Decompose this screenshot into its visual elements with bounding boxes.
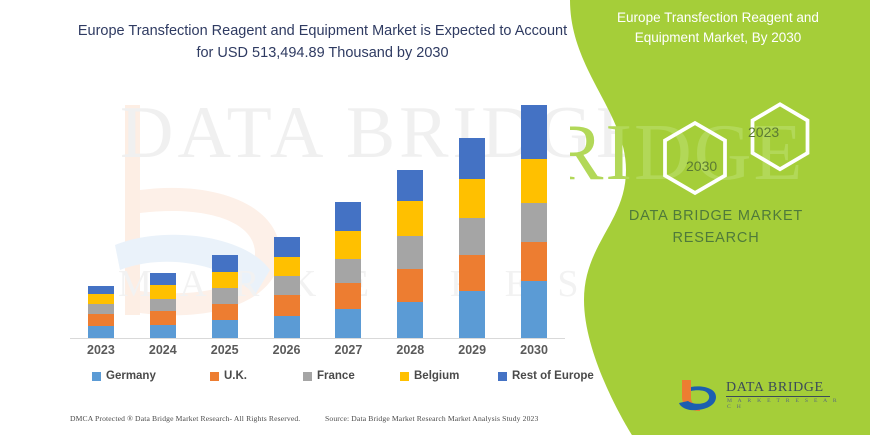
logo-name: DATA BRIDGE xyxy=(726,380,824,396)
bar-segment-2025-belgium[interactable] xyxy=(212,272,238,289)
x-tick-2027: 2027 xyxy=(318,343,378,357)
bar-segment-2029-rest-of-europe[interactable] xyxy=(459,138,485,180)
green-side-panel: RIDGE Europe Transfection Reagent and Eq… xyxy=(570,0,870,435)
infographic-canvas: DATA BRIDGE M A R K E T R E S E A R C H … xyxy=(0,0,870,435)
bar-segment-2026-rest-of-europe[interactable] xyxy=(274,237,300,257)
panel-brand-line-1: DATA BRIDGE MARKET xyxy=(590,208,842,224)
bar-segment-2027-germany[interactable] xyxy=(335,309,361,338)
legend-item-germany[interactable]: Germany xyxy=(92,370,156,382)
legend-swatch-icon xyxy=(303,372,312,381)
bar-segment-2030-france[interactable] xyxy=(521,203,547,241)
x-axis-tick-labels: 20232024202520262027202820292030 xyxy=(70,343,565,361)
bar-segment-2025-rest-of-europe[interactable] xyxy=(212,255,238,272)
bar-segment-2023-u-k[interactable] xyxy=(88,314,114,325)
legend-swatch-icon xyxy=(210,372,219,381)
bar-segment-2027-rest-of-europe[interactable] xyxy=(335,202,361,231)
bar-segment-2030-belgium[interactable] xyxy=(521,159,547,204)
bar-segment-2023-rest-of-europe[interactable] xyxy=(88,286,114,294)
x-tick-2025: 2025 xyxy=(195,343,255,357)
bar-2024[interactable] xyxy=(150,273,176,338)
bar-segment-2024-belgium[interactable] xyxy=(150,285,176,298)
bar-segment-2028-u-k[interactable] xyxy=(397,269,423,302)
footer-source: Source: Data Bridge Market Research Mark… xyxy=(325,414,538,423)
legend-label: U.K. xyxy=(224,370,247,382)
bar-segment-2026-france[interactable] xyxy=(274,276,300,296)
bar-segment-2023-france[interactable] xyxy=(88,304,114,314)
hexagon-group: 2030 2023 xyxy=(630,88,830,198)
bar-segment-2029-u-k[interactable] xyxy=(459,255,485,291)
bar-segment-2029-germany[interactable] xyxy=(459,291,485,338)
bar-segment-2028-rest-of-europe[interactable] xyxy=(397,170,423,201)
hexagon-label-2030: 2030 xyxy=(686,158,717,174)
bar-2023[interactable] xyxy=(88,286,114,338)
legend-swatch-icon xyxy=(400,372,409,381)
x-tick-2030: 2030 xyxy=(504,343,564,357)
chart-legend: GermanyU.K.FranceBelgiumRest of Europe xyxy=(70,370,570,388)
bar-segment-2026-u-k[interactable] xyxy=(274,295,300,316)
legend-label: France xyxy=(317,370,355,382)
logo-divider xyxy=(726,396,830,397)
bar-segment-2027-belgium[interactable] xyxy=(335,231,361,259)
hexagon-outlines xyxy=(630,88,830,198)
bar-segment-2027-france[interactable] xyxy=(335,259,361,283)
bar-2026[interactable] xyxy=(274,237,300,338)
legend-item-france[interactable]: France xyxy=(303,370,355,382)
bar-segment-2024-rest-of-europe[interactable] xyxy=(150,273,176,285)
bar-2025[interactable] xyxy=(212,255,238,338)
x-tick-2029: 2029 xyxy=(442,343,502,357)
chart-plot-area xyxy=(70,90,565,339)
bar-segment-2030-u-k[interactable] xyxy=(521,242,547,281)
data-bridge-logo: DATA BRIDGE M A R K E T R E S E A R C H xyxy=(678,378,848,412)
footer-copyright: DMCA Protected ® Data Bridge Market Rese… xyxy=(70,414,300,423)
hexagon-label-2023: 2023 xyxy=(748,124,779,140)
legend-label: Germany xyxy=(106,370,156,382)
bar-segment-2028-belgium[interactable] xyxy=(397,201,423,236)
logo-mark-icon xyxy=(678,378,724,412)
legend-swatch-icon xyxy=(498,372,507,381)
x-tick-2023: 2023 xyxy=(71,343,131,357)
bar-segment-2025-u-k[interactable] xyxy=(212,304,238,321)
bar-segment-2026-germany[interactable] xyxy=(274,316,300,338)
legend-label: Belgium xyxy=(414,370,459,382)
bar-segment-2030-rest-of-europe[interactable] xyxy=(521,105,547,159)
x-tick-2028: 2028 xyxy=(380,343,440,357)
legend-item-belgium[interactable]: Belgium xyxy=(400,370,459,382)
panel-brand-line-2: RESEARCH xyxy=(590,230,842,246)
bar-segment-2029-belgium[interactable] xyxy=(459,179,485,217)
bar-segment-2026-belgium[interactable] xyxy=(274,257,300,276)
bar-segment-2027-u-k[interactable] xyxy=(335,283,361,309)
legend-swatch-icon xyxy=(92,372,101,381)
x-tick-2024: 2024 xyxy=(133,343,193,357)
bar-segment-2024-germany[interactable] xyxy=(150,325,176,338)
bar-segment-2023-germany[interactable] xyxy=(88,326,114,338)
bar-2028[interactable] xyxy=(397,170,423,338)
chart-title: Europe Transfection Reagent and Equipmen… xyxy=(70,20,575,65)
bar-segment-2023-belgium[interactable] xyxy=(88,294,114,303)
bar-segment-2025-germany[interactable] xyxy=(212,320,238,338)
bar-segment-2028-germany[interactable] xyxy=(397,302,423,338)
legend-item-u-k[interactable]: U.K. xyxy=(210,370,247,382)
bar-segment-2028-france[interactable] xyxy=(397,236,423,268)
bar-2030[interactable] xyxy=(521,105,547,338)
x-axis-line xyxy=(70,338,565,339)
bar-segment-2025-france[interactable] xyxy=(212,288,238,304)
bar-segment-2029-france[interactable] xyxy=(459,218,485,255)
bar-segment-2024-france[interactable] xyxy=(150,299,176,311)
bar-segment-2024-u-k[interactable] xyxy=(150,311,176,324)
x-tick-2026: 2026 xyxy=(257,343,317,357)
panel-title: Europe Transfection Reagent and Equipmen… xyxy=(592,8,844,49)
logo-tagline: M A R K E T R E S E A R C H xyxy=(727,398,848,410)
bar-2029[interactable] xyxy=(459,138,485,338)
bar-segment-2030-germany[interactable] xyxy=(521,281,547,338)
bar-2027[interactable] xyxy=(335,202,361,338)
